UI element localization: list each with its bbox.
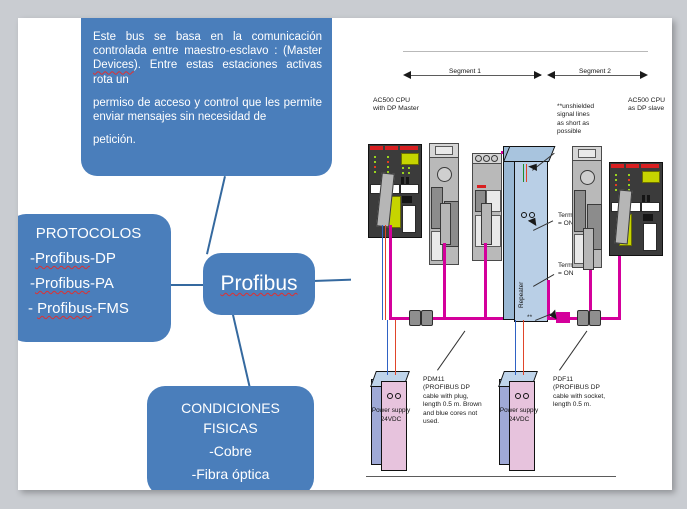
slide-page: Este bus se basa en la comunicación cont… [18, 18, 672, 490]
cable-right-note: PDF11 (PROFIBUS DP cable with socket, le… [553, 376, 625, 410]
protocols-item-dp: -Profibus-DP [22, 246, 165, 271]
cpu-slave-label: AC500 CPU as DP slave [628, 97, 665, 114]
cpu-master-label: AC500 CPU with DP Master [373, 97, 419, 114]
segment1-arrow-right [534, 71, 542, 79]
module1-plug [440, 203, 451, 245]
conditions-item-cobre: -Cobre [153, 441, 308, 461]
psu-left-label: Power supply 24VDC [371, 407, 411, 424]
center-node-label: Profibus [220, 272, 297, 296]
repeater-top-bevel [503, 146, 555, 162]
master-wire-blue [382, 225, 383, 320]
segment1-label: Segment 1 [446, 68, 484, 75]
protocols-box: PROTOCOLOS -Profibus-DP -Profibus-PA - P… [18, 214, 171, 342]
module3-plug [583, 228, 594, 270]
bus-connector-block-3 [577, 310, 589, 326]
segment2-arrow-right [640, 71, 648, 79]
bus-connector-block-4 [589, 310, 601, 326]
psu-left-terminal-2 [395, 393, 401, 399]
callout-paragraph-2: permiso de acceso y control que les perm… [93, 96, 322, 124]
conditions-item-fibra: -Fibra óptica [153, 464, 308, 484]
diagram-bottom-rule [366, 476, 616, 477]
bus-riser-seg2-right [618, 248, 621, 320]
psu-right-terminal-1 [515, 393, 521, 399]
psu-right-label: Power supply 24VDC [499, 407, 539, 424]
segment1-line [409, 75, 541, 76]
psu-right-terminal-2 [523, 393, 529, 399]
bus-cable-seg1-drop2 [443, 243, 446, 320]
leader-pdm11 [437, 331, 465, 371]
protocols-item-pa: -Profibus-PA [22, 271, 165, 296]
callout-description: Este bus se basa en la comunicación cont… [81, 18, 332, 176]
diagram-top-rule [403, 51, 648, 52]
psu-left-terminal-1 [387, 393, 393, 399]
psu-left-wire-red [395, 320, 396, 375]
double-asterisk-marker: ** [527, 314, 532, 322]
bus-cable-seg1-drop3 [484, 243, 487, 320]
segment1-arrow-left [403, 71, 411, 79]
profibus-topology-diagram: Segment 1 Segment 2 AC500 CPU with DP Ma… [351, 18, 672, 490]
protocols-title: PROTOCOLOS [22, 221, 165, 246]
callout-paragraph-1: Este bus se basa en la comunicación cont… [93, 30, 322, 87]
conditions-title-1: CONDICIONES [153, 398, 308, 418]
protocols-item-fms: - Profibus-FMS [22, 296, 165, 321]
leader-pdf11 [559, 331, 587, 371]
bus-connector-block-1 [409, 310, 421, 326]
repeater-wire-red [526, 164, 527, 182]
callout-paragraph-3: petición. [93, 133, 322, 147]
connector-left [168, 284, 206, 286]
slide-canvas: { "slide": { "callout_paragraphs": [ "Es… [0, 0, 687, 509]
segment2-arrow-left [547, 71, 555, 79]
bus-run-seg1-b [443, 317, 486, 320]
conditions-box: CONDICIONES FISICAS -Cobre -Fibra óptica [147, 386, 314, 490]
repeater-terminal-1 [521, 212, 527, 218]
master-wire-red [385, 225, 386, 320]
unshielded-note: **unshielded signal lines as short as po… [557, 103, 609, 137]
bus-cable-seg1-drop1 [389, 225, 392, 320]
connector-bottom [232, 315, 251, 391]
conditions-title-2: FISICAS [153, 418, 308, 438]
cable-left-note: PDM11 (PROFIBUS DP cable with plug, leng… [423, 376, 495, 426]
power-supply-right: Power supply 24VDC [499, 371, 539, 471]
module2-plug [481, 203, 492, 245]
bus-connector-block-2 [421, 310, 433, 326]
psu-right-wire-red [523, 320, 524, 375]
repeater-wire-green [523, 164, 524, 182]
psu-left-wire-blue [387, 320, 388, 375]
connector-top [206, 176, 226, 254]
repeater-label: Repeater [518, 282, 525, 308]
center-node-profibus: Profibus [203, 253, 315, 315]
segment2-label: Segment 2 [576, 68, 614, 75]
segment2-line [553, 75, 643, 76]
power-supply-left: Power supply 24VDC [371, 371, 411, 471]
psu-right-wire-blue [515, 320, 516, 375]
